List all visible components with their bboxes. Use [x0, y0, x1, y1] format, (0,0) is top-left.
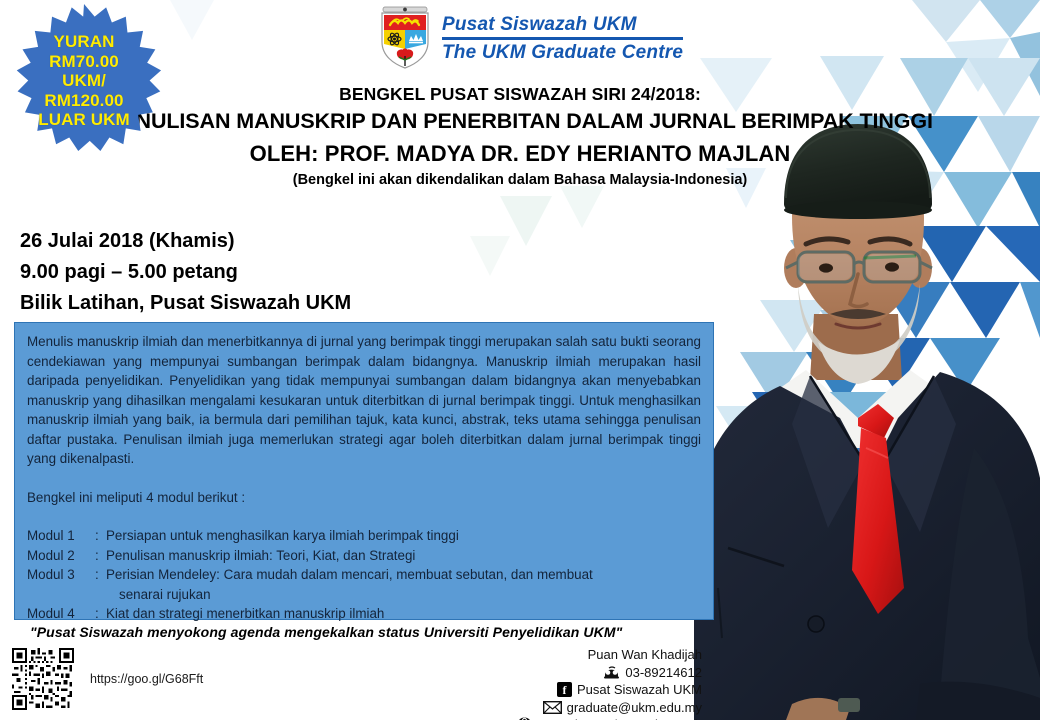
qr-code-icon[interactable]: [12, 648, 74, 710]
fee-line-1: YURAN: [2, 32, 166, 52]
module-item: Modul 1 : Persiapan untuk menghasilkan k…: [27, 526, 701, 546]
module-item: Modul 3 : Perisian Mendeley: Cara mudah …: [27, 565, 701, 585]
contact-phone-number: 03-89214612: [625, 664, 702, 682]
speaker-portrait-photo: [688, 118, 1040, 720]
logo-title-english: The UKM Graduate Centre: [442, 42, 683, 64]
poster-canvas: YURAN RM70.00 UKM/ RM120.00 LUAR UKM: [0, 0, 1040, 720]
module-item: Modul 2 : Penulisan manuskrip ilmiah: Te…: [27, 546, 701, 566]
telephone-icon: [603, 666, 620, 679]
fee-line-4: RM120.00: [2, 91, 166, 111]
description-panel: Menulis manuskrip ilmiah dan menerbitkan…: [14, 322, 714, 620]
fee-badge: YURAN RM70.00 UKM/ RM120.00 LUAR UKM: [2, 4, 166, 172]
event-details: 26 Julai 2018 (Khamis) 9.00 pagi – 5.00 …: [20, 226, 351, 319]
logo-title-malay: Pusat Siswazah UKM: [442, 14, 683, 36]
envelope-icon: [543, 701, 562, 714]
intro-paragraph: Menulis manuskrip ilmiah dan menerbitkan…: [27, 332, 701, 469]
modules-list: Modul 1 : Persiapan untuk menghasilkan k…: [27, 526, 701, 624]
logo-wordmark: Pusat Siswazah UKM The UKM Graduate Cent…: [442, 10, 683, 64]
event-time: 9.00 pagi – 5.00 petang: [20, 257, 351, 288]
tagline: "Pusat Siswazah menyokong agenda mengeka…: [30, 624, 622, 640]
workshop-language-note: (Bengkel ini akan dikendalikan dalam Bah…: [0, 170, 1040, 190]
short-url-text[interactable]: https://goo.gl/G68Fft: [90, 672, 203, 686]
contact-block: Puan Wan Khadijah 03-89214612 f Pusat Si…: [517, 646, 702, 720]
fee-line-2: RM70.00: [2, 52, 166, 72]
organization-logo-header: Pusat Siswazah UKM The UKM Graduate Cent…: [376, 2, 686, 72]
module-separator: :: [95, 565, 106, 585]
contact-person-row: Puan Wan Khadijah: [517, 646, 702, 664]
module-text: Penulisan manuskrip ilmiah: Teori, Kiat,…: [106, 546, 701, 566]
module-text: Perisian Mendeley: Cara mudah dalam menc…: [106, 565, 701, 585]
contact-facebook-row[interactable]: f Pusat Siswazah UKM: [517, 681, 702, 699]
module-label: Modul 1: [27, 526, 95, 546]
module-label: Modul 2: [27, 546, 95, 566]
event-venue: Bilik Latihan, Pusat Siswazah UKM: [20, 288, 351, 319]
module-continuation: senarai rujukan: [27, 585, 701, 605]
contact-website-url[interactable]: www.ukm.my/pusatsiswazah: [537, 716, 702, 720]
module-text: Kiat dan strategi menerbitkan manuskrip …: [106, 604, 701, 624]
logo-divider: [442, 37, 683, 40]
event-date: 26 Julai 2018 (Khamis): [20, 226, 351, 257]
module-separator: :: [95, 546, 106, 566]
facebook-icon[interactable]: f: [557, 682, 572, 697]
ukm-crest-icon: [376, 4, 434, 70]
fee-line-3: UKM/: [2, 71, 166, 91]
module-item: Modul 4 : Kiat dan strategi menerbitkan …: [27, 604, 701, 624]
fee-line-5: LUAR UKM: [2, 110, 166, 130]
module-separator: :: [95, 604, 106, 624]
contact-facebook-page[interactable]: Pusat Siswazah UKM: [577, 681, 702, 699]
module-text: Persiapan untuk menghasilkan karya ilmia…: [106, 526, 701, 546]
qr-block: https://goo.gl/G68Fft: [12, 648, 203, 710]
fee-badge-text: YURAN RM70.00 UKM/ RM120.00 LUAR UKM: [2, 32, 166, 130]
module-label: Modul 4: [27, 604, 95, 624]
contact-person-name: Puan Wan Khadijah: [588, 646, 702, 664]
module-separator: :: [95, 526, 106, 546]
modules-intro-text: Bengkel ini meliputi 4 modul berikut :: [27, 488, 701, 508]
contact-email-row[interactable]: graduate@ukm.edu.my: [517, 699, 702, 717]
module-label: Modul 3: [27, 565, 95, 585]
contact-website-row[interactable]: www www.ukm.my/pusatsiswazah: [517, 716, 702, 720]
contact-email-address[interactable]: graduate@ukm.edu.my: [567, 699, 702, 717]
contact-phone-row: 03-89214612: [517, 664, 702, 682]
